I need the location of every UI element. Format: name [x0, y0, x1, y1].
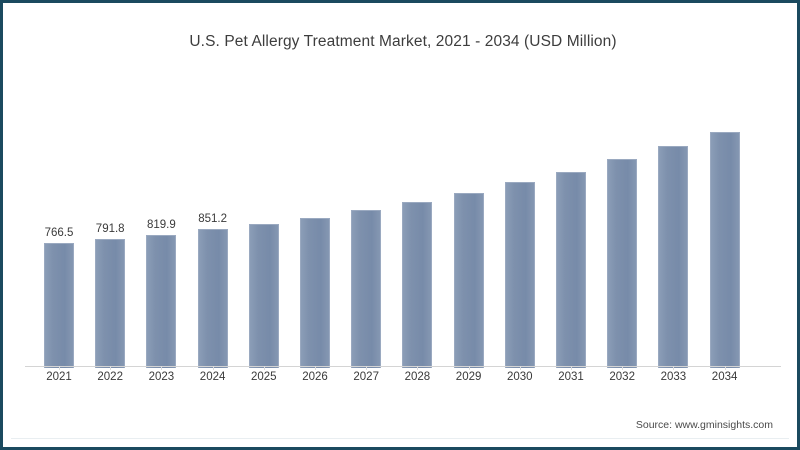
bar-rect: [249, 224, 279, 368]
x-axis-label-2029: 2029: [443, 371, 495, 383]
bar-rect: [402, 202, 432, 368]
x-axis-label-2034: 2034: [699, 371, 751, 383]
x-axis-label-2028: 2028: [391, 371, 443, 383]
bar-value-label: 766.5: [33, 227, 85, 239]
bar-rect: [607, 159, 637, 368]
x-axis-tick: [213, 366, 214, 370]
x-axis-label-2031: 2031: [545, 371, 597, 383]
x-axis-labels: 2021202220232024202520262027202820292030…: [25, 371, 781, 389]
bar-rect: [556, 172, 586, 368]
x-axis-tick: [469, 366, 470, 370]
x-axis-label-2033: 2033: [647, 371, 699, 383]
x-axis-label-2032: 2032: [596, 371, 648, 383]
x-axis-tick: [59, 366, 60, 370]
chart-frame: U.S. Pet Allergy Treatment Market, 2021 …: [0, 0, 800, 450]
bar-rect: [454, 193, 484, 368]
bar-value-label: 851.2: [187, 213, 239, 225]
bar-rect: [351, 210, 381, 368]
plot-area: 766.5791.8819.9851.2: [25, 73, 781, 368]
x-axis-tick: [161, 366, 162, 370]
x-axis-label-2025: 2025: [238, 371, 290, 383]
bar-rect: [198, 229, 228, 368]
bar-value-label: 819.9: [135, 219, 187, 231]
bar-rect: [300, 218, 330, 368]
bar-rect: [44, 243, 74, 368]
x-axis-tick: [417, 366, 418, 370]
x-axis-label-2021: 2021: [33, 371, 85, 383]
x-axis-tick: [366, 366, 367, 370]
x-axis-label-2026: 2026: [289, 371, 341, 383]
x-axis-tick: [622, 366, 623, 370]
x-axis-label-2027: 2027: [340, 371, 392, 383]
source-note: Source: www.gminsights.com: [636, 419, 773, 431]
x-axis-tick: [725, 366, 726, 370]
x-axis-line: [25, 366, 781, 367]
x-axis-label-2022: 2022: [84, 371, 136, 383]
bar-rect: [710, 132, 740, 368]
x-axis-tick: [520, 366, 521, 370]
bar-rect: [658, 146, 688, 368]
bar-value-label: 791.8: [84, 223, 136, 235]
x-axis-tick: [264, 366, 265, 370]
x-axis-tick: [315, 366, 316, 370]
bars-layer: 766.5791.8819.9851.2: [25, 73, 781, 368]
x-axis-label-2030: 2030: [494, 371, 546, 383]
x-axis-label-2023: 2023: [135, 371, 187, 383]
chart-title: U.S. Pet Allergy Treatment Market, 2021 …: [3, 33, 800, 51]
bar-rect: [505, 182, 535, 368]
bar-rect: [146, 235, 176, 368]
x-axis-tick: [110, 366, 111, 370]
x-axis-label-2024: 2024: [187, 371, 239, 383]
x-axis-tick: [673, 366, 674, 370]
bar-rect: [95, 239, 125, 368]
x-axis-tick: [571, 366, 572, 370]
footer-divider: [11, 438, 789, 439]
